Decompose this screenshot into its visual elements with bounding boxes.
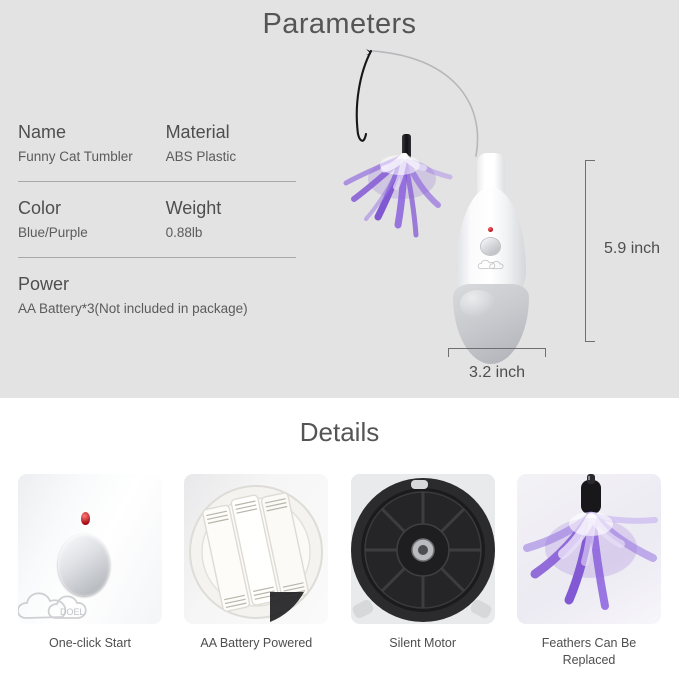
spec-value-weight: 0.88lb xyxy=(166,222,298,244)
detail-card-feathers[interactable]: Feathers Can Be Replaced xyxy=(517,474,661,669)
detail-caption: Silent Motor xyxy=(351,635,495,652)
spec-label-material: Material xyxy=(166,120,298,144)
details-card-list: DOEL One-click Start xyxy=(18,474,661,669)
battery-slots-icon xyxy=(184,474,328,624)
detail-card-aa-battery[interactable]: AA Battery Powered xyxy=(184,474,328,669)
svg-text:DOEL: DOEL xyxy=(60,607,85,617)
detail-caption: Feathers Can Be Replaced xyxy=(517,635,661,669)
led-indicator-icon xyxy=(488,227,493,232)
product-hero-image xyxy=(300,38,600,368)
spec-divider-2 xyxy=(18,257,296,258)
spec-table: Name Funny Cat Tumbler Material ABS Plas… xyxy=(18,120,298,320)
height-dimension-bracket xyxy=(585,160,595,342)
spec-value-material: ABS Plastic xyxy=(166,146,298,168)
detail-card-silent-motor[interactable]: Silent Motor xyxy=(351,474,495,669)
detail-caption: One-click Start xyxy=(18,635,162,652)
details-section: Details DOEL One-click Start xyxy=(0,398,679,673)
tumbler-body xyxy=(450,153,532,368)
motor-base-photo xyxy=(351,474,495,624)
spec-divider-1 xyxy=(18,181,296,182)
product-infographic: Parameters Name Funny Cat Tumbler Materi… xyxy=(0,0,679,673)
spec-value-name: Funny Cat Tumbler xyxy=(18,146,166,168)
power-button[interactable] xyxy=(481,238,500,255)
width-dimension-label: 3.2 inch xyxy=(448,364,546,382)
parameters-section: Parameters Name Funny Cat Tumbler Materi… xyxy=(0,0,679,398)
feather-tuft-icon xyxy=(517,474,661,624)
detail-card-one-click-start[interactable]: DOEL One-click Start xyxy=(18,474,162,669)
height-dimension-label: 5.9 inch xyxy=(604,240,660,258)
feather-cluster-icon xyxy=(340,153,460,248)
battery-compartment-photo xyxy=(184,474,328,624)
spec-label-weight: Weight xyxy=(166,196,298,220)
spec-label-name: Name xyxy=(18,120,166,144)
brand-logo xyxy=(476,257,508,273)
motor-wheel-icon xyxy=(351,474,495,624)
spec-row-name-material: Name Funny Cat Tumbler Material ABS Plas… xyxy=(18,120,298,168)
width-dimension-bracket xyxy=(448,348,546,357)
led-indicator-icon xyxy=(81,512,90,525)
spec-cell-weight: Weight 0.88lb xyxy=(166,196,298,244)
spec-cell-material: Material ABS Plastic xyxy=(166,120,298,168)
spec-row-color-weight: Color Blue/Purple Weight 0.88lb xyxy=(18,196,298,244)
parameters-title: Parameters xyxy=(0,8,679,41)
spec-row-power: Power AA Battery*3(Not included in packa… xyxy=(18,272,298,320)
spec-value-color: Blue/Purple xyxy=(18,222,166,244)
feather-wand-photo xyxy=(517,474,661,624)
brand-logo-icon: DOEL xyxy=(18,582,92,624)
details-title: Details xyxy=(0,417,679,448)
spec-cell-color: Color Blue/Purple xyxy=(18,196,166,244)
power-button-photo: DOEL xyxy=(18,474,162,624)
spec-cell-name: Name Funny Cat Tumbler xyxy=(18,120,166,168)
spec-label-color: Color xyxy=(18,196,166,220)
detail-caption: AA Battery Powered xyxy=(184,635,328,652)
